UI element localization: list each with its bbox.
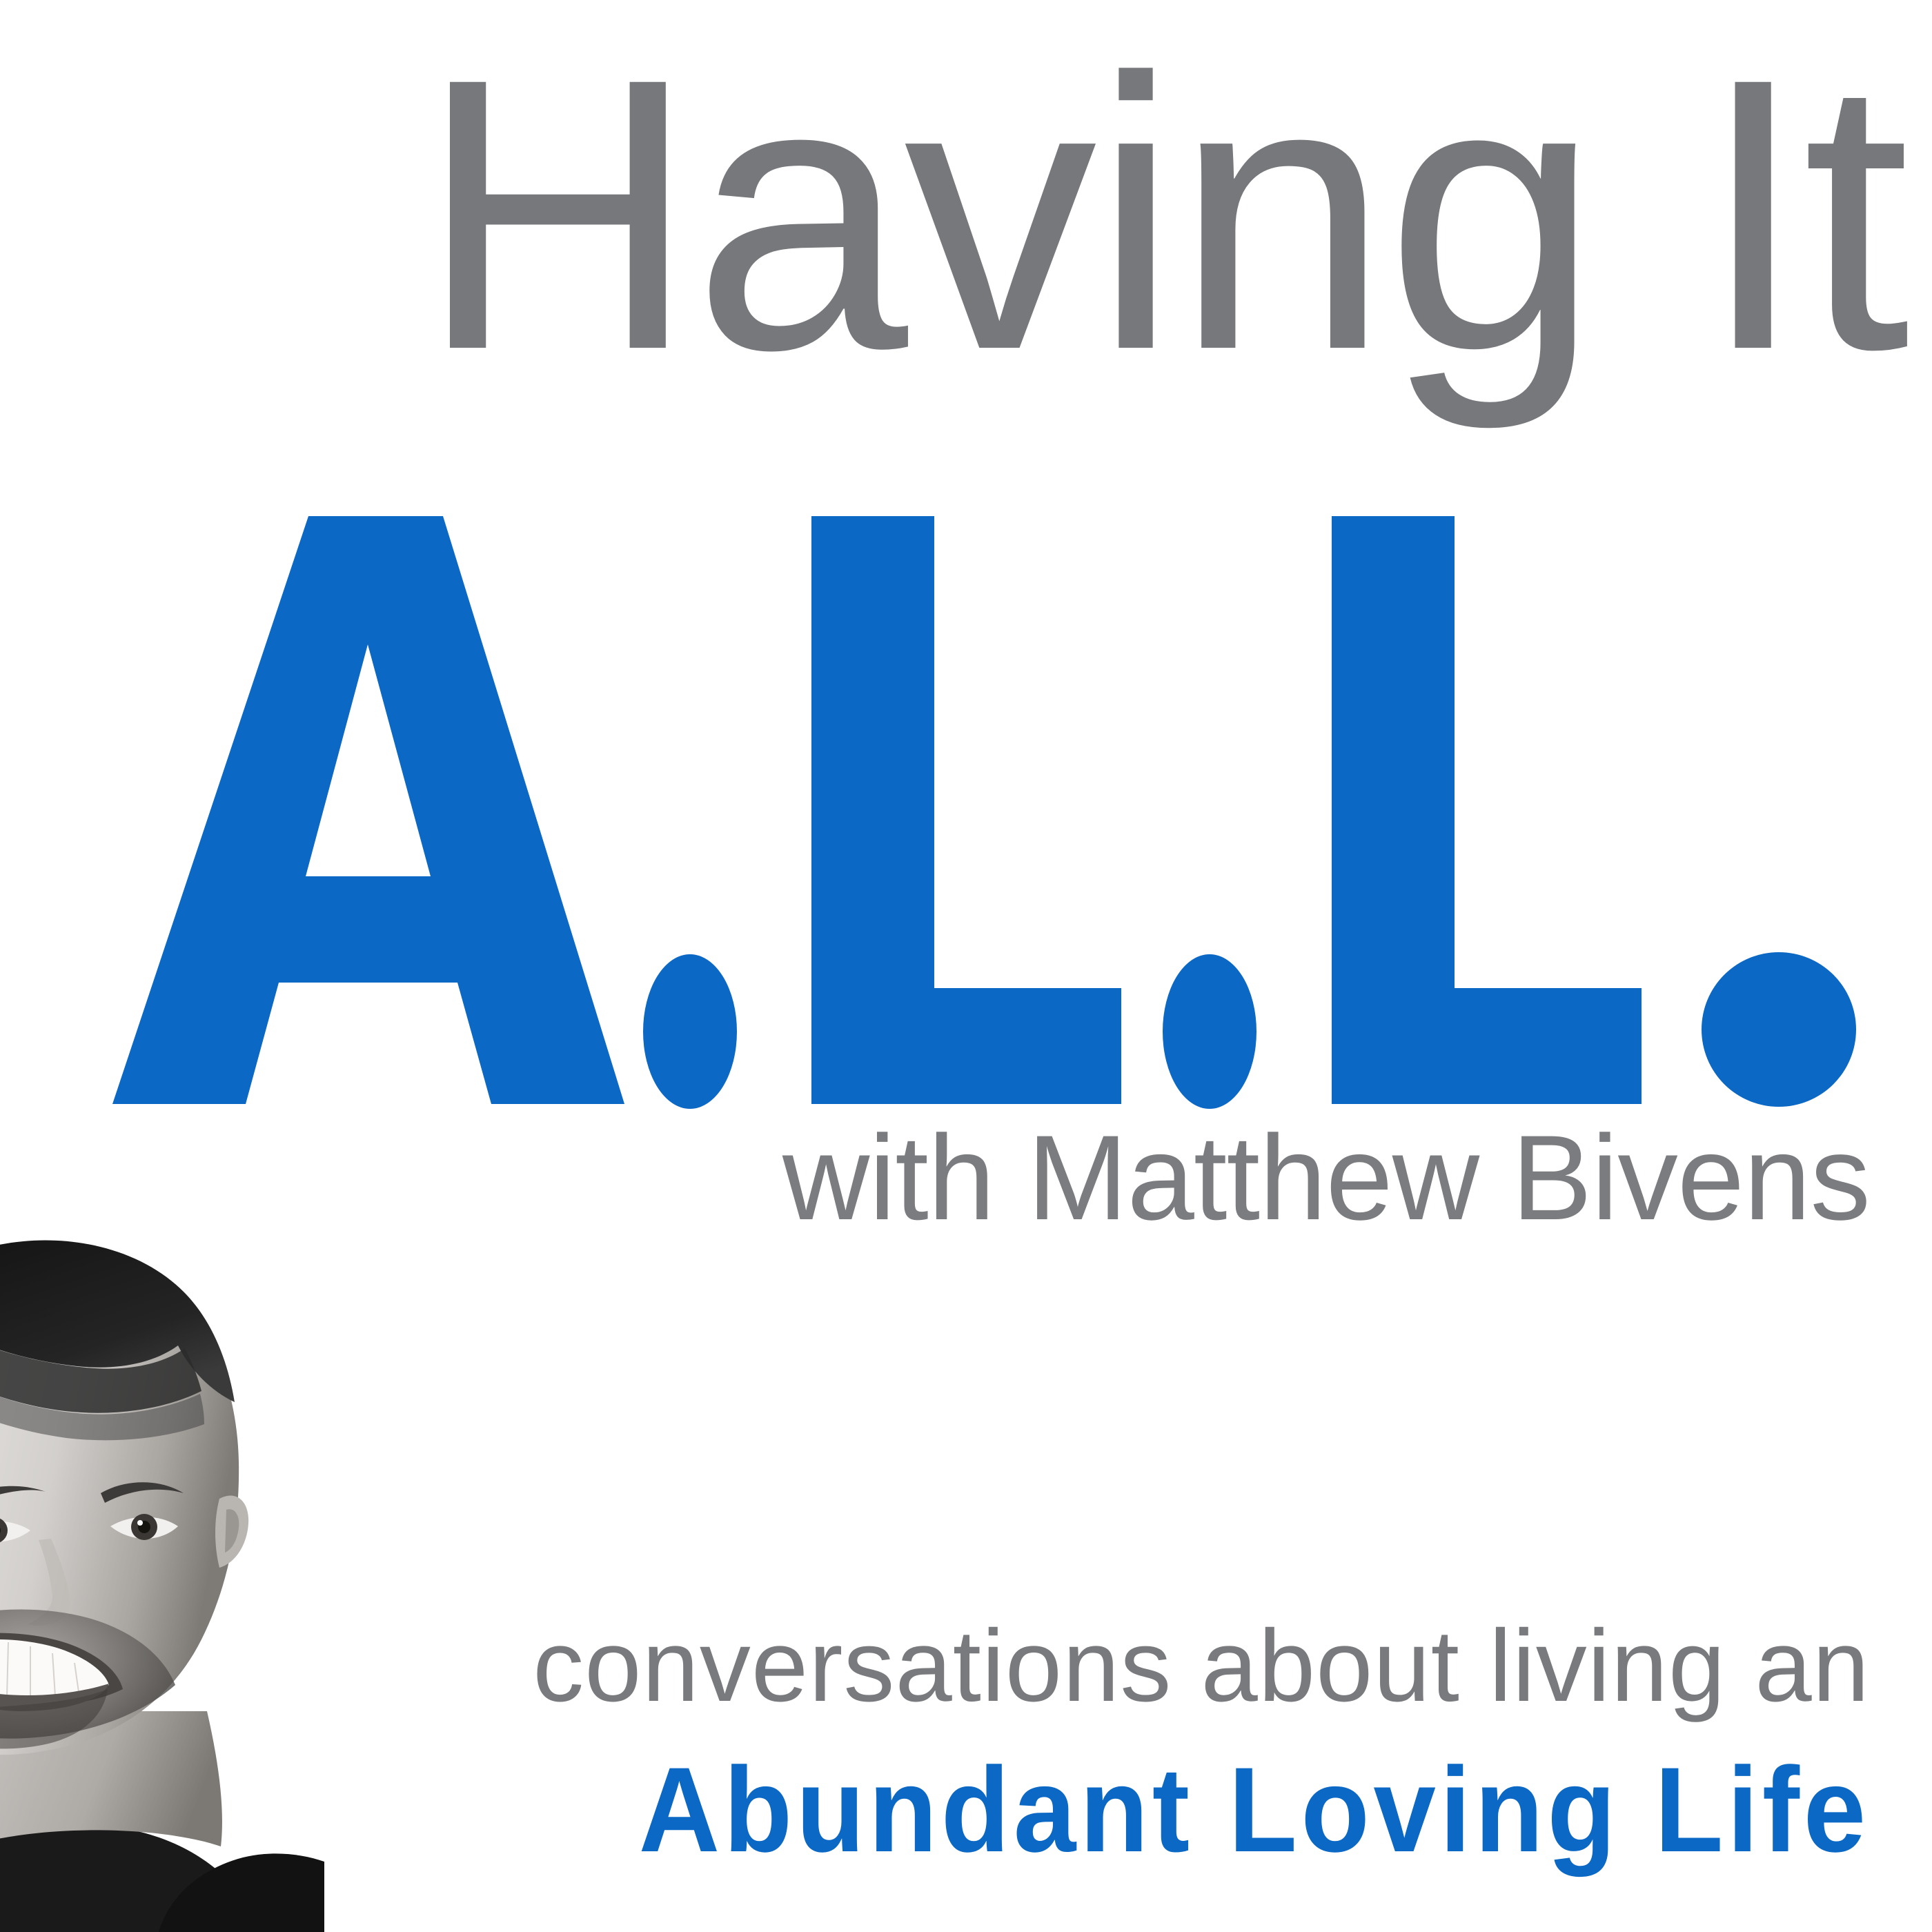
- host-byline: with Matthew Bivens: [782, 1118, 1870, 1239]
- wordmark-period-1: [643, 954, 737, 1109]
- tagline-line-1: conversations about living an: [533, 1611, 1870, 1722]
- podcast-cover-art: Having It with Matthew Bivens conversati…: [0, 0, 1932, 1932]
- show-title: Having It: [0, 21, 1906, 407]
- wordmark-letter-a: [112, 516, 624, 1104]
- wordmark-letter-l2: [1332, 516, 1642, 1104]
- tagline-block: conversations about living an Abundant L…: [533, 1611, 1870, 1875]
- tagline-line-2: Abundant Loving Life: [627, 1745, 1870, 1875]
- all-wordmark: [0, 511, 1932, 1132]
- host-portrait: [0, 1228, 324, 1932]
- host-portrait-svg: [0, 1228, 324, 1932]
- wordmark-period-2: [1163, 954, 1256, 1109]
- wordmark-period-3: [1702, 952, 1856, 1107]
- all-wordmark-svg: [0, 511, 1932, 1132]
- wordmark-letter-l1: [811, 516, 1121, 1104]
